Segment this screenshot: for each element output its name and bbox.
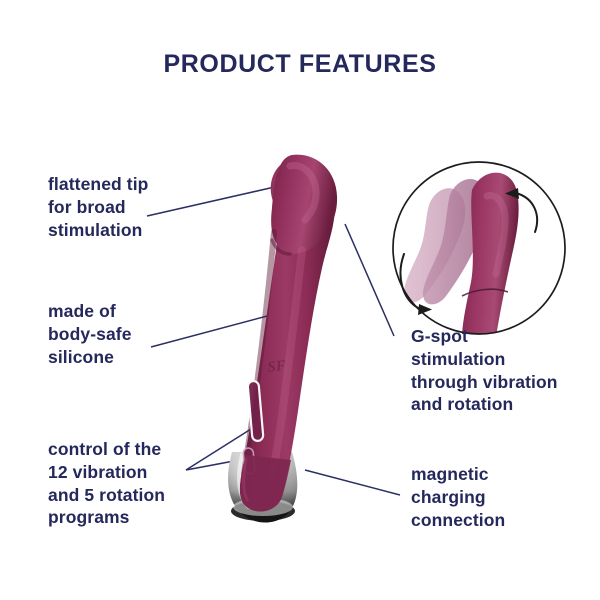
label-body-safe-silicone: made of body-safe silicone [48,300,198,368]
label-magnetic-charging: magnetic charging connection [411,463,571,531]
label-gspot-stimulation: G-spot stimulation through vibration and… [411,325,576,416]
leader-magnetic [305,470,400,495]
infographic-canvas: PRODUCT FEATURES [0,0,600,600]
label-control-programs: control of the 12 vibration and 5 rotati… [48,438,218,529]
leader-gspot [345,224,394,336]
brand-logo-icon: SF [267,358,287,376]
product-body: SF [228,155,337,523]
label-flattened-tip: flattened tip for broad stimulation [48,173,198,241]
svg-text:SF: SF [267,358,287,376]
